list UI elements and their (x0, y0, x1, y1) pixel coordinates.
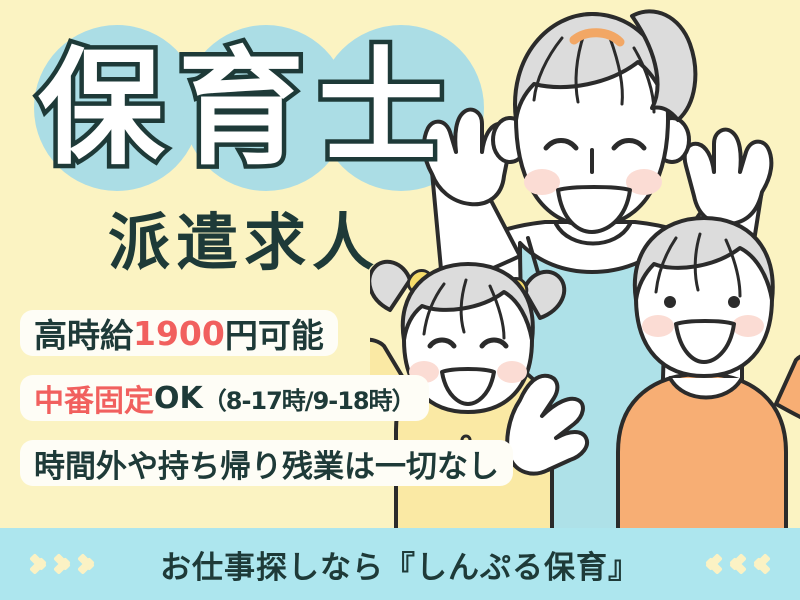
feature-prefix: 高時給 (34, 309, 133, 357)
feature-suffix: OK (154, 381, 203, 416)
left-chevron-icon (726, 547, 746, 581)
feature-pill-hourly-wage: 高時給1900円可能 (20, 310, 338, 356)
left-chevron-icon (702, 547, 722, 581)
feature-note: （8-17時/9-18時） (203, 381, 415, 416)
feature-highlight: 1900 (133, 314, 225, 353)
right-chevron-icon (54, 547, 74, 581)
feature-pill-fixed-shift: 中番固定OK（8-17時/9-18時） (20, 375, 429, 421)
page-title: 保育士 (38, 34, 488, 184)
bottom-banner: お仕事探しなら『しんぷる保育』 (0, 528, 800, 600)
left-chevron-icon (750, 547, 770, 581)
chevron-group-left (30, 547, 98, 581)
chevron-group-right (702, 547, 770, 581)
right-chevron-icon (30, 547, 50, 581)
right-chevron-icon (78, 547, 98, 581)
feature-highlight: 中番固定 (34, 376, 154, 420)
feature-suffix: 円可能 (225, 309, 324, 357)
page-subtitle: 派遣求人 (108, 192, 380, 282)
poster-canvas: 保育士 派遣求人 高時給1900円可能 中番固定OK（8-17時/9-18時） … (0, 0, 800, 600)
feature-prefix: 時間外や持ち帰り残業は一切なし (34, 441, 499, 486)
feature-pill-no-overtime: 時間外や持ち帰り残業は一切なし (20, 440, 513, 486)
banner-text: お仕事探しなら『しんぷる保育』 (160, 542, 640, 587)
